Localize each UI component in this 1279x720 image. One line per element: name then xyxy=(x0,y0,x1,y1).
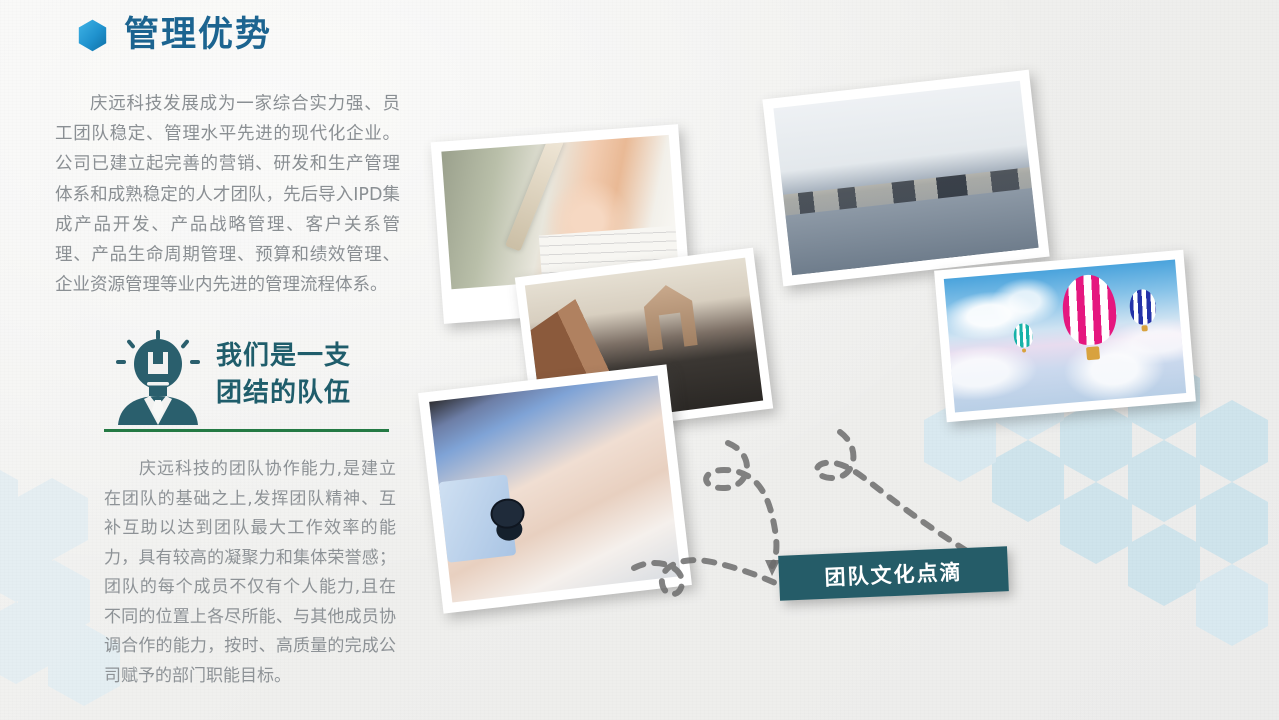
intro-paragraph: 庆远科技发展成为一家综合实力强、员工团队稳定、管理水平先进的现代化企业。公司已建… xyxy=(55,89,400,300)
hexagon-icon xyxy=(78,19,107,52)
team-title-line-2: 团结的队伍 xyxy=(216,378,351,408)
photo-stacked-hands xyxy=(418,364,692,613)
culture-banner-label: 团队文化点滴 xyxy=(824,556,963,592)
page-title: 管理优势 xyxy=(124,18,272,53)
lightbulb-head-person-icon xyxy=(112,330,204,425)
team-title-line-1: 我们是一支 xyxy=(216,341,351,371)
cloud-layer xyxy=(944,260,1186,413)
dashed-arrow-middle xyxy=(706,443,776,566)
team-callout-title: 我们是一支 团结的队伍 xyxy=(216,338,351,412)
team-divider-rule xyxy=(104,429,389,432)
photo-office-lab xyxy=(762,70,1049,287)
balloon-teal-icon xyxy=(1013,323,1033,349)
photo-hot-air-balloons xyxy=(934,250,1196,422)
slide-header: 管理优势 xyxy=(78,18,272,53)
teamwork-paragraph: 庆远科技的团队协作能力,是建立在团队的基础之上,发挥团队精神、互补互助以达到团队… xyxy=(104,455,396,691)
culture-banner[interactable]: 团队文化点滴 xyxy=(778,546,1009,601)
photo-image-hands xyxy=(429,375,681,602)
team-callout: 我们是一支 团结的队伍 xyxy=(104,330,394,435)
slide-canvas: 管理优势 庆远科技发展成为一家综合实力强、员工团队稳定、管理水平先进的现代化企业… xyxy=(0,0,1279,720)
photo-image-balloons xyxy=(944,260,1186,413)
photo-image-office xyxy=(773,81,1038,276)
